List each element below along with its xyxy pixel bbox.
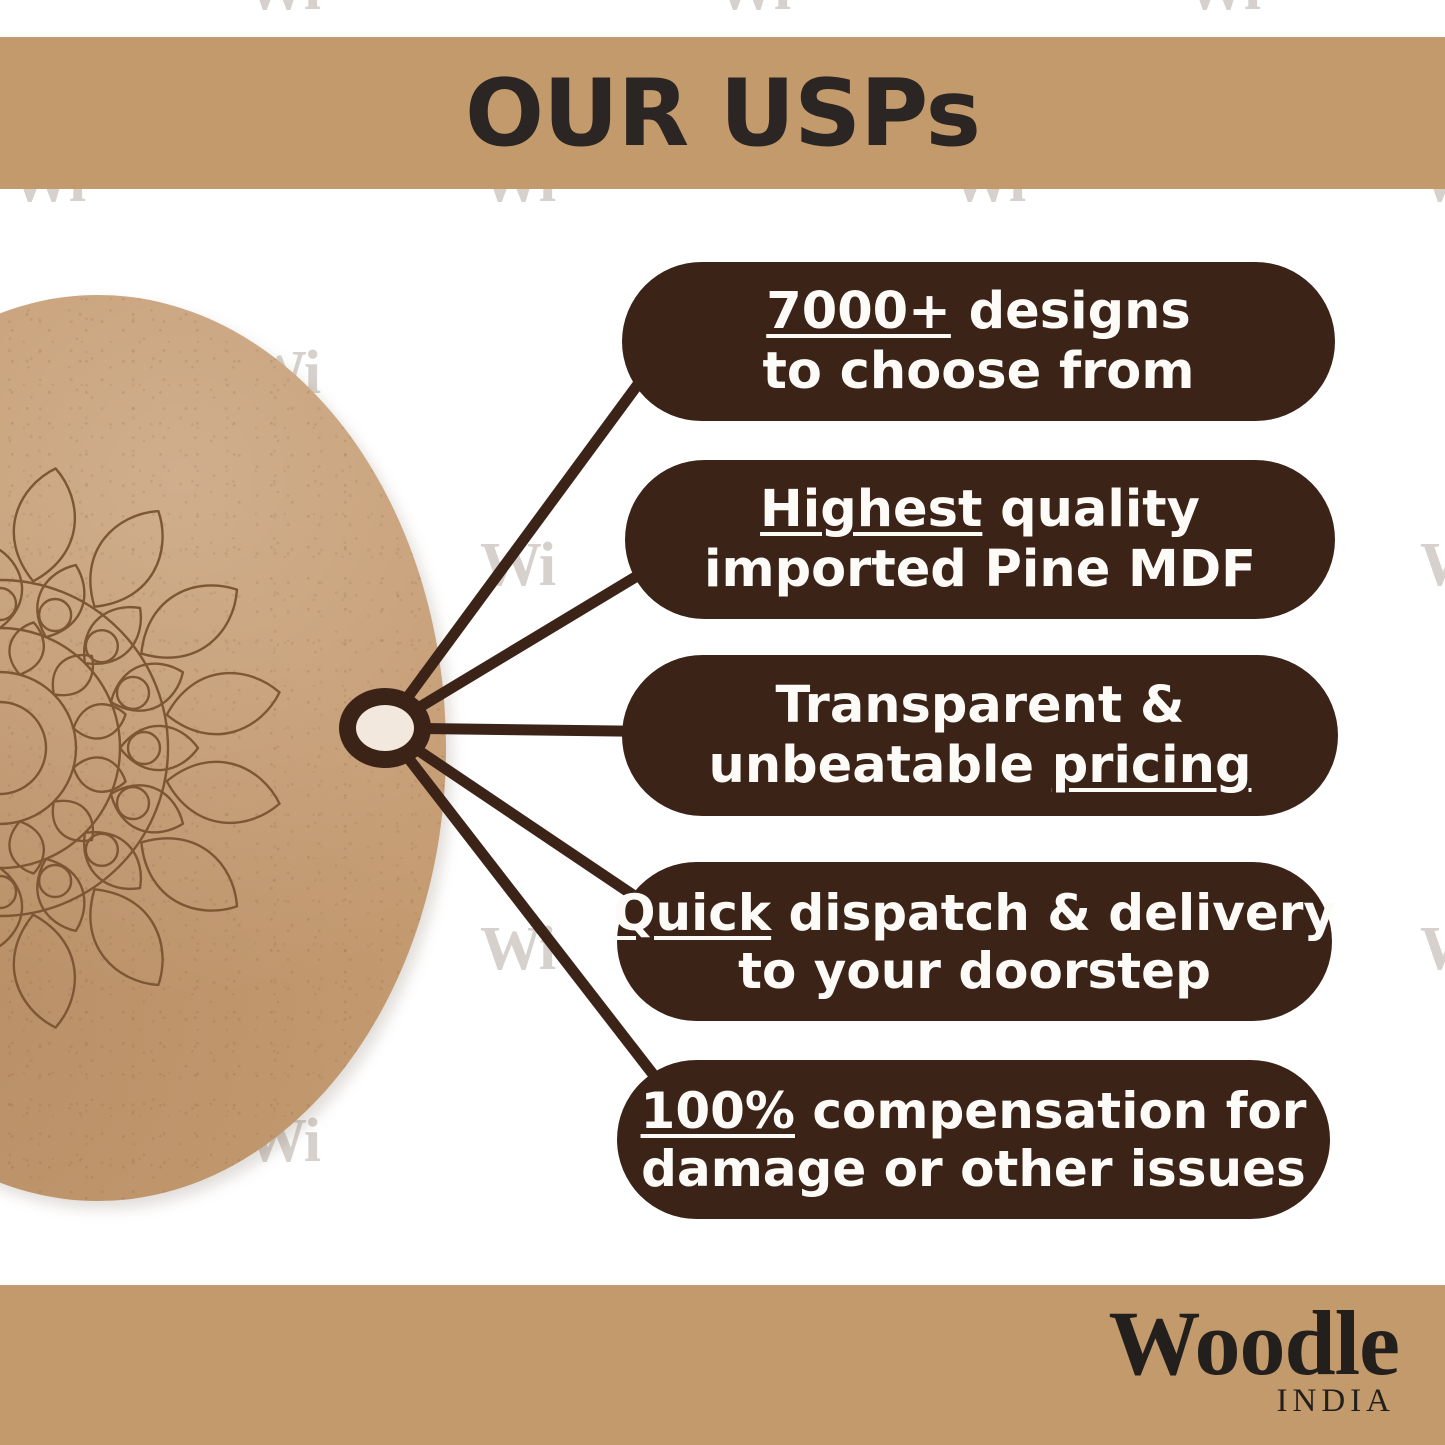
usp-line-1: Highest quality xyxy=(760,480,1200,539)
usp-pill-designs-count[interactable]: 7000+ designs to choose from xyxy=(622,262,1335,421)
usp-emphasis: 7000+ xyxy=(766,282,951,341)
usp-line-1-rest: dispatch & delivery xyxy=(771,884,1336,942)
hub-node xyxy=(339,688,431,768)
usp-pill-material-quality[interactable]: Highest quality imported Pine MDF xyxy=(625,460,1335,619)
usp-pill-dispatch-delivery[interactable]: Quick dispatch & delivery to your doorst… xyxy=(617,862,1332,1021)
usp-line-1: 100% compensation for xyxy=(641,1082,1307,1140)
usp-line-1: 7000+ designs xyxy=(766,282,1191,341)
usp-line-1-rest: Transparent & xyxy=(776,676,1185,735)
usp-line-2: unbeatable pricing xyxy=(709,736,1252,795)
usp-line-1: Quick dispatch & delivery xyxy=(613,884,1336,942)
usp-line-2: imported Pine MDF xyxy=(704,540,1256,599)
usp-emphasis: 100% xyxy=(641,1082,795,1140)
usp-emphasis: Highest xyxy=(760,480,982,539)
page-title: OUR USPs xyxy=(0,37,1445,189)
usp-pill-pricing[interactable]: Transparent & unbeatable pricing xyxy=(622,655,1338,816)
brand-logo: Woodle INDIA xyxy=(979,1300,1399,1432)
usp-line-2-pre: unbeatable xyxy=(709,736,1052,795)
usp-line-1: Transparent & xyxy=(776,676,1185,735)
usp-line-2: to choose from xyxy=(762,342,1194,401)
usp-line-2: damage or other issues xyxy=(641,1140,1306,1198)
usp-pill-compensation[interactable]: 100% compensation for damage or other is… xyxy=(617,1060,1330,1219)
usp-line-1-rest: quality xyxy=(982,480,1200,539)
usp-line-2: to your doorstep xyxy=(738,942,1211,1000)
infographic-canvas: WiWiWiWiWiWiWiWiWiWiWiWiWiWiWiWiWiWiWiWi… xyxy=(0,0,1445,1445)
usp-emphasis: Quick xyxy=(613,884,771,942)
usp-line-1-rest: designs xyxy=(951,282,1191,341)
brand-logo-wordmark: Woodle xyxy=(979,1300,1399,1387)
usp-emphasis: pricing xyxy=(1052,736,1252,795)
usp-line-1-rest: compensation for xyxy=(795,1082,1306,1140)
